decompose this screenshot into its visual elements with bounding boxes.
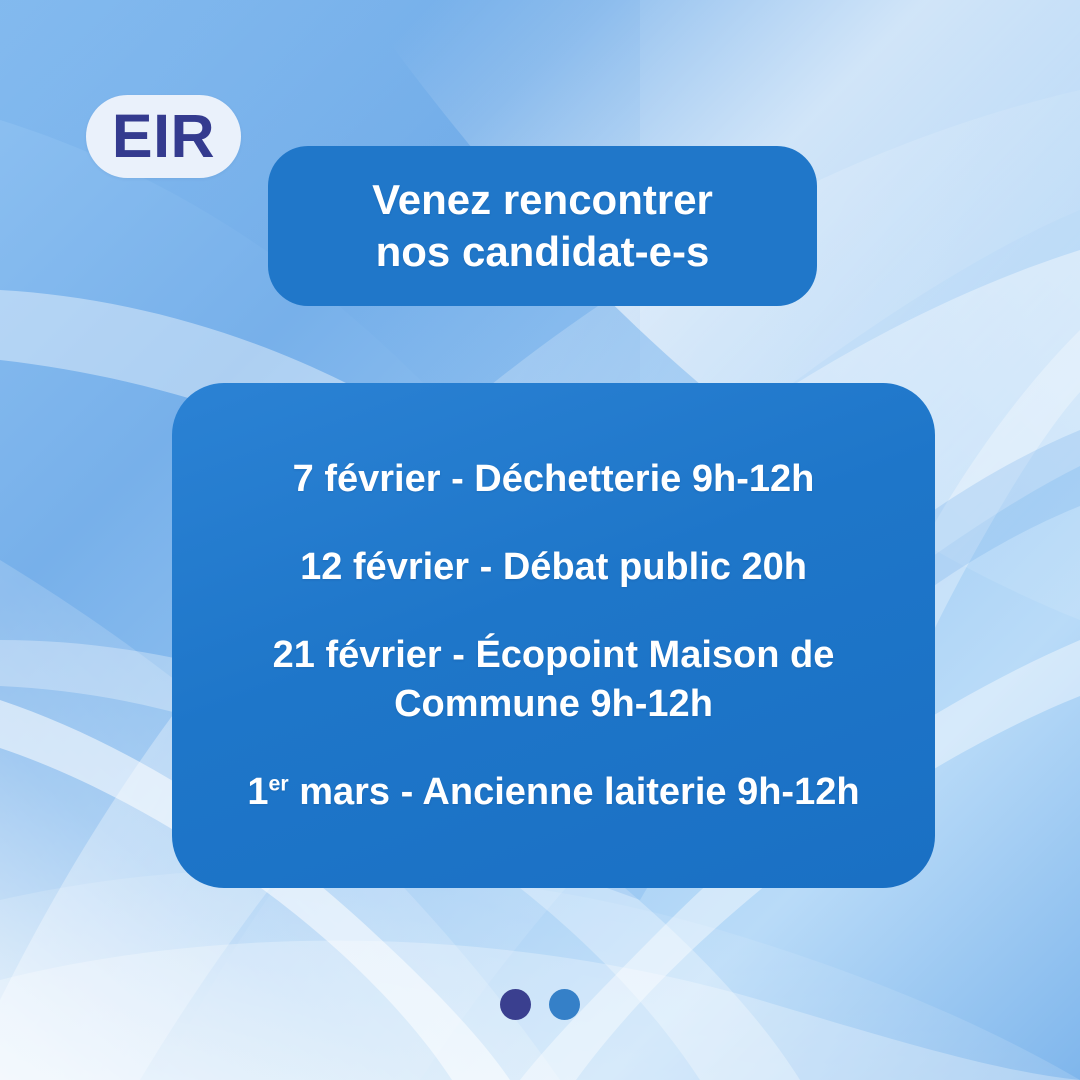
event-text-line-1: 21 février - Écopoint Maison de	[273, 634, 835, 676]
event-text-line-1: 12 février - Débat public 20h	[300, 546, 807, 588]
pagination-dot-active[interactable]	[500, 989, 531, 1020]
event-text-rest: mars - Ancienne laiterie 9h-12h	[289, 771, 860, 813]
event-item: 1er mars - Ancienne laiterie 9h-12h	[196, 748, 911, 836]
events-card: 7 février - Déchetterie 9h-12h 12 févrie…	[172, 383, 935, 888]
event-text-line-1: 7 février - Déchetterie 9h-12h	[293, 458, 815, 500]
eir-logo: EIR	[86, 95, 241, 178]
event-item: 12 février - Débat public 20h	[196, 523, 911, 611]
event-text-line-2: Commune 9h-12h	[394, 683, 713, 725]
event-item: 21 février - Écopoint Maison de Commune …	[196, 611, 911, 748]
pagination-dots[interactable]	[0, 989, 1080, 1020]
title-line-1: Venez rencontrer	[372, 174, 713, 226]
event-date-ordinal: er	[269, 771, 289, 795]
eir-logo-text: EIR	[112, 106, 215, 167]
title-line-2: nos candidat-e-s	[376, 226, 710, 278]
poster-canvas: EIR Venez rencontrer nos candidat-e-s 7 …	[0, 0, 1080, 1080]
pagination-dot-inactive[interactable]	[549, 989, 580, 1020]
event-date-prefix: 1	[247, 771, 268, 813]
event-item: 7 février - Déchetterie 9h-12h	[196, 435, 911, 523]
title-card: Venez rencontrer nos candidat-e-s	[268, 146, 817, 306]
